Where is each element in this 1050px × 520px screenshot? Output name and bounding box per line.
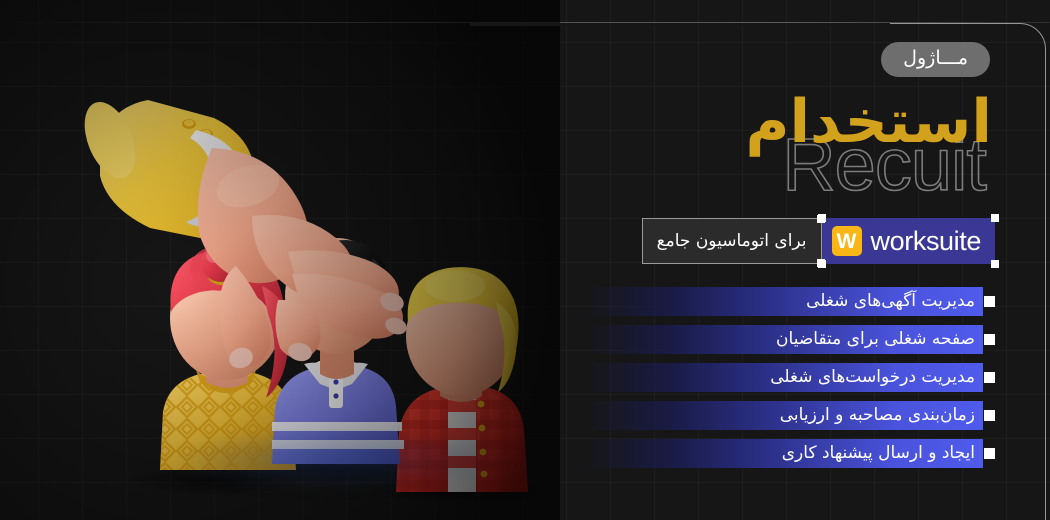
feature-label: صفحه شغلی برای متقاضیان xyxy=(776,331,984,348)
worksuite-mark-icon: W xyxy=(832,226,862,256)
bullet-square-icon xyxy=(984,410,995,421)
feature-item-4[interactable]: زمان‌بندی مصاحبه و ارزیابی xyxy=(585,401,995,430)
title-main-text: استخدام xyxy=(745,92,992,152)
tagline-box: برای اتوماسیون جامع xyxy=(642,218,822,264)
logo-tagline-row: W worksuite برای اتوماسیون جامع xyxy=(642,218,995,264)
worksuite-wordmark: worksuite xyxy=(871,228,981,255)
worksuite-logo[interactable]: W worksuite xyxy=(822,218,995,264)
feature-label: زمان‌بندی مصاحبه و ارزیابی xyxy=(780,407,984,424)
tagline-text: برای اتوماسیون جامع xyxy=(657,231,807,251)
module-badge: مـــاژول xyxy=(881,42,990,77)
bullet-square-icon xyxy=(984,372,995,383)
selection-handle-mid-top[interactable] xyxy=(991,214,999,222)
feature-label: ایجاد و ارسال پیشنهاد کاری xyxy=(782,445,984,462)
banner-canvas: مـــاژول Recuit استخدام W worksuite برای… xyxy=(0,0,1050,520)
feature-item-2[interactable]: صفحه شغلی برای متقاضیان xyxy=(585,325,995,354)
feature-item-1[interactable]: مدیریت آگهی‌های شغلی xyxy=(585,287,995,316)
hero-illustration xyxy=(0,0,560,520)
bullet-square-icon xyxy=(984,296,995,307)
feature-label: مدیریت درخواست‌های شغلی xyxy=(770,369,984,386)
feature-item-3[interactable]: مدیریت درخواست‌های شغلی xyxy=(585,363,995,392)
illustration-vignette xyxy=(0,0,560,520)
feature-list: مدیریت آگهی‌های شغلی صفحه شغلی برای متقا… xyxy=(585,287,995,468)
page-title: Recuit استخدام xyxy=(492,92,992,192)
feature-label: مدیریت آگهی‌های شغلی xyxy=(806,293,984,310)
feature-item-5[interactable]: ایجاد و ارسال پیشنهاد کاری xyxy=(585,439,995,468)
selection-handle-top-right[interactable] xyxy=(817,215,825,223)
bullet-square-icon xyxy=(984,334,995,345)
selection-handle-mid-bottom[interactable] xyxy=(991,260,999,268)
frame-top-mask xyxy=(470,23,890,26)
bullet-square-icon xyxy=(984,448,995,459)
selection-handle-bottom-right[interactable] xyxy=(817,259,825,267)
